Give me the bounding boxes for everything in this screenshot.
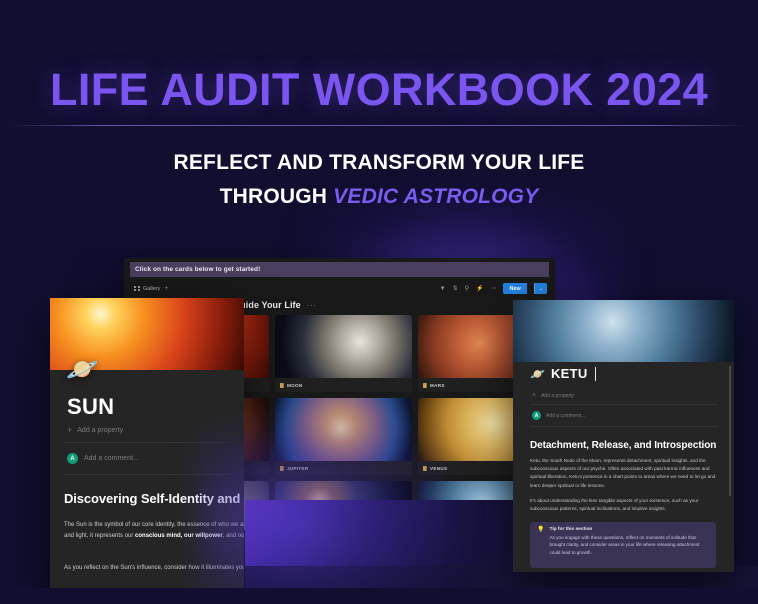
sun-add-property-label: Add a property [77, 427, 123, 434]
sun-paragraph-1: The Sun is the symbol of our core identi… [64, 520, 244, 542]
gallery-card[interactable]: MOON [275, 315, 412, 392]
page-title: LIFE AUDIT WORKBOOK 2024 [0, 64, 758, 116]
avatar: A [67, 453, 78, 464]
sun-section-heading: Discovering Self-Identity and Purpose [64, 491, 244, 506]
gallery-card-label-row: JUPITER [275, 461, 412, 475]
sun-add-property-row[interactable]: + Add a property [67, 426, 123, 435]
gallery-card-thumbnail [275, 315, 412, 378]
search-icon[interactable]: ⚲ [465, 286, 469, 292]
sun-detail-card[interactable]: 🪐 SUN + Add a property A Add a comment..… [50, 298, 244, 588]
tip-body: As you engage with these questions, refl… [549, 534, 709, 557]
page-icon [423, 466, 427, 471]
planet-icon[interactable]: 🪐 [530, 368, 545, 380]
ketu-add-comment-row[interactable]: A Add a comment... [532, 411, 585, 420]
database-more-icon[interactable]: ··· [307, 301, 317, 310]
callout-banner-text: Click on the cards below to get started! [135, 266, 260, 273]
view-tab-gallery[interactable]: Gallery [134, 286, 160, 292]
lightbulb-icon: 💡 [537, 527, 544, 568]
sun-add-comment-row[interactable]: A Add a comment... [67, 453, 139, 464]
planet-icon[interactable]: 🪐 [66, 356, 98, 382]
subtitle-accent: VEDIC ASTROLOGY [333, 185, 538, 208]
gallery-card-label: JUPITER [287, 466, 309, 471]
plus-icon: + [532, 392, 536, 399]
ketu-section-heading: Detachment, Release, and Introspection [530, 440, 716, 451]
callout-banner: Click on the cards below to get started! [130, 262, 549, 277]
add-view-button[interactable]: + [164, 285, 168, 292]
ketu-divider-top [530, 404, 718, 405]
gallery-card-thumbnail [275, 398, 412, 461]
subtitle-prefix: THROUGH [220, 185, 334, 208]
ketu-divider-bottom [530, 426, 718, 427]
poster-page: LIFE AUDIT WORKBOOK 2024 REFLECT AND TRA… [0, 0, 758, 604]
gallery-card-label-row: MOON [275, 378, 412, 392]
tip-callout: 💡 Tip for this section As you engage wit… [530, 522, 716, 568]
toolbar-right-group: ▼ ⇅ ⚲ ⚡ ⋯ New ⌄ [440, 283, 547, 294]
ketu-title-row: 🪐 KETU [530, 366, 596, 381]
tip-title: Tip for this section [549, 527, 709, 532]
gallery-card[interactable]: JUPITER [275, 398, 412, 475]
sun-para1-line2a: and light, it represents our [64, 533, 135, 539]
title-divider [14, 125, 744, 126]
tip-text-wrap: Tip for this section As you engage with … [549, 527, 709, 568]
gallery-card-label: MOON [287, 383, 303, 388]
new-button-caret-icon[interactable]: ⌄ [534, 283, 547, 294]
scrollbar[interactable] [729, 366, 731, 496]
sun-divider-bottom [64, 474, 230, 475]
text-cursor [595, 367, 596, 381]
sun-card-title: SUN [67, 394, 114, 420]
more-options-icon[interactable]: ⋯ [490, 286, 496, 292]
page-icon [280, 466, 284, 471]
new-button[interactable]: New [503, 283, 526, 294]
gallery-card[interactable]: RAHU [275, 481, 412, 530]
view-tab-label: Gallery [143, 286, 160, 292]
automation-icon[interactable]: ⚡ [476, 286, 483, 292]
sun-para1-line1: The Sun is the symbol of our core identi… [64, 522, 244, 528]
sun-para1-line2b: , and our vitality. [223, 533, 244, 539]
gallery-card-label: VENUS [430, 466, 447, 471]
sun-paragraph-2: As you reflect on the Sun's influence, c… [64, 563, 244, 574]
ketu-paragraph-1: Ketu, the South Node of the Moon, repres… [530, 457, 716, 490]
ketu-paragraph-2: It's about understanding the less tangib… [530, 497, 716, 513]
subtitle-line-2: THROUGH VEDIC ASTROLOGY [0, 185, 758, 209]
sun-add-comment-label: Add a comment... [84, 455, 139, 462]
sun-divider-top [64, 442, 230, 443]
page-icon [423, 383, 427, 388]
page-bottom-fill [0, 588, 758, 604]
ketu-add-property-label: Add a property [541, 393, 574, 399]
filter-icon[interactable]: ▼ [440, 286, 446, 292]
plus-icon: + [67, 426, 72, 435]
gallery-view-icon [134, 286, 140, 292]
ketu-add-property-row[interactable]: + Add a property [532, 392, 574, 399]
gallery-card-label: MARS [430, 383, 445, 388]
sort-icon[interactable]: ⇅ [453, 286, 458, 292]
database-toolbar: Gallery + ▼ ⇅ ⚲ ⚡ ⋯ New ⌄ [124, 280, 555, 297]
ketu-card-title: KETU [551, 366, 588, 381]
ketu-detail-card[interactable]: 🪐 KETU + Add a property A Add a comment.… [513, 300, 734, 572]
subtitle-line-1: REFLECT AND TRANSFORM YOUR LIFE [0, 151, 758, 175]
ketu-add-comment-label: Add a comment... [546, 413, 585, 419]
page-icon [280, 383, 284, 388]
avatar: A [532, 411, 541, 420]
ketu-cover-image [513, 300, 734, 362]
sun-para1-bold: conscious mind, our willpower [135, 533, 223, 539]
gallery-card-thumbnail [275, 481, 412, 530]
